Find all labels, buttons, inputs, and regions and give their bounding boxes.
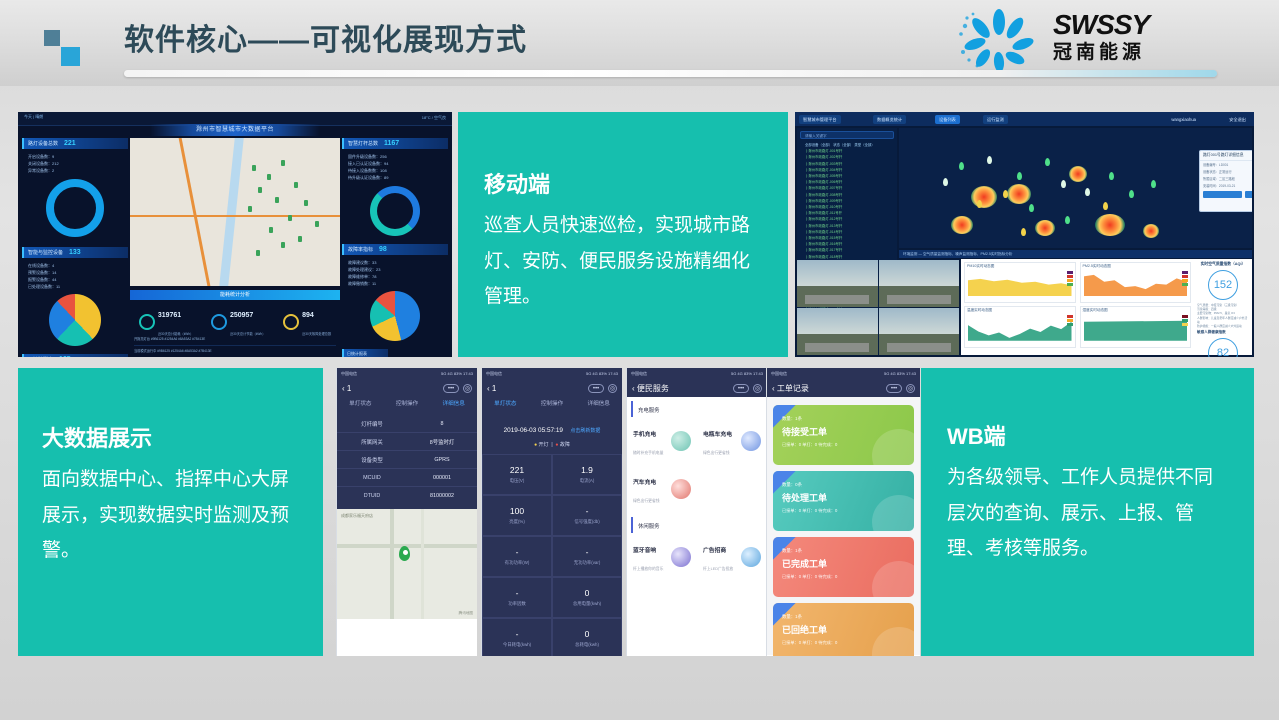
target-icon[interactable]: ◎ <box>608 384 617 393</box>
location-map[interactable]: 成都家乐福天府店 腾讯地图 <box>337 509 477 619</box>
tab-lamp-status[interactable]: 单灯状态 <box>337 397 384 411</box>
dashboard-left-column: 路灯设备总数221 开启设备数：9 关闭设备数：212 异常设备数：2 智能与监… <box>22 138 128 357</box>
kpi-header-poles: 智慧灯杆总数1167 <box>342 138 448 149</box>
nav-actions[interactable]: ••• ◎ <box>733 384 762 393</box>
back-icon[interactable]: ‹ 1 <box>342 384 351 393</box>
popup-control-button[interactable] <box>1245 191 1253 198</box>
back-icon[interactable]: ‹ 便民服务 <box>632 383 669 394</box>
donut-chart-poles <box>370 186 420 236</box>
chart-area-pm10 <box>968 272 1072 296</box>
metric-cell: -信号强度(db) <box>552 495 622 536</box>
square-dark-icon <box>44 30 60 46</box>
phone-nav-bar[interactable]: ‹ 工单记录 ••• ◎ <box>767 379 920 397</box>
nav-actions[interactable]: ••• ◎ <box>588 384 617 393</box>
chart-area-pm25 <box>1084 272 1188 296</box>
services-body: 充电服务 手机充电 随时补充手机电量 电瓶车充电 绿色出行更省钱 汽车充电 绿色… <box>627 401 767 656</box>
logout-button[interactable]: 安全退出 <box>1225 115 1250 124</box>
heatmap-canvas[interactable]: 路灯001号路灯详细信息 设备编号：LD001 设备状态：正常运行 所属区域：二… <box>899 128 1252 248</box>
phone-charge-icon <box>671 431 691 451</box>
work-order-card-pending-accept[interactable]: 数量：1条 待接受工单 已接单：0 单打：0 待完成：0 <box>773 405 914 465</box>
toolbar-item-monitor[interactable]: 运行监测 <box>983 115 1008 124</box>
chart-title-daily: 日统计报表 <box>342 349 388 357</box>
aqi-value-secondary: 82 <box>1208 338 1238 357</box>
panel-bigdata-body: 面向数据中心、指挥中心大屏展示，实现数据实时监测及预警。 <box>42 462 299 567</box>
chart-legend <box>1182 271 1188 287</box>
state-row: ● 开灯 | ● 故障 <box>482 441 622 454</box>
camera-grid[interactable] <box>797 260 959 355</box>
leisure-grid[interactable]: 蓝牙音响 杆上播放你的音乐 广告招商 杆上LED广告投放 <box>627 533 767 581</box>
state-err-label: 故障 <box>560 442 570 448</box>
panel-web: WB端 为各级领导、工作人员提供不同层次的查询、展示、上报、管理、考核等服务。 <box>921 368 1254 656</box>
chart-pm25: PM2.5实时动态图 <box>1080 262 1192 303</box>
service-ad-placement[interactable]: 广告招商 杆上LED广告投放 <box>697 533 767 581</box>
nav-actions[interactable]: ••• ◎ <box>443 384 472 393</box>
carrier-label: 中国电信 <box>341 371 357 377</box>
metric-cell: 221电压(V) <box>482 454 552 495</box>
car-charge-icon <box>671 479 691 499</box>
popup-row: 设备编号：LD001 <box>1200 161 1252 168</box>
square-blue-icon <box>61 47 80 66</box>
ebike-charge-icon <box>741 431 761 451</box>
chart-area-humidity <box>1084 316 1188 340</box>
chart-pm10: PM10实时动态图 <box>964 262 1076 303</box>
toolbar-item-platform[interactable]: 智慧城市管理平台 <box>799 115 841 124</box>
popup-row: 设备状态：正常运行 <box>1200 168 1252 175</box>
map-dashboard-toolbar[interactable]: 智慧城市管理平台 数据概览统计 设备列表 运行监测 wangxiaohua 安全… <box>795 112 1254 126</box>
panel-bigdata-title: 大数据展示 <box>42 426 299 452</box>
phone-work-orders[interactable]: 中国电信 5G 4G 83% 17:43 ‹ 工单记录 ••• ◎ 数量：1条 … <box>766 368 920 656</box>
ring-icon <box>283 314 299 330</box>
phone-tabs[interactable]: 单灯状态 控制操作 详细信息 <box>482 397 622 411</box>
phone-status-bar: 中国电信 5G 4G 83% 17:43 <box>482 368 622 379</box>
target-icon[interactable]: ◎ <box>753 384 762 393</box>
work-order-card-rejected[interactable]: 数量：1条 已回绝工单 已接单：0 单打：0 待完成：0 <box>773 603 914 656</box>
energy-band-title: 能耗统计分析 <box>130 290 340 300</box>
tab-control[interactable]: 控制操作 <box>529 397 576 411</box>
carrier-label: 中国电信 <box>771 371 787 377</box>
status-right: 5G 4G 83% 17:43 <box>731 371 763 376</box>
more-icon[interactable]: ••• <box>733 384 749 393</box>
camera-feed[interactable] <box>879 308 960 355</box>
tab-lamp-status[interactable]: 单灯状态 <box>482 397 529 411</box>
service-bluetooth-speaker[interactable]: 蓝牙音响 杆上播放你的音乐 <box>627 533 697 581</box>
environment-charts: PM10实时动态图 PM2.5实时动态图 温度实时动态图 <box>961 259 1194 355</box>
metric-cell: 0总用电量(kwh) <box>552 577 622 618</box>
phone-lamp-status[interactable]: 中国电信 5G 4G 83% 17:43 ‹ 1 ••• ◎ 单灯状态 控制操作… <box>481 368 622 656</box>
map-attribution: 腾讯地图 <box>459 611 473 616</box>
state-on-label: 开灯 <box>539 442 549 448</box>
charging-grid[interactable]: 手机充电 随时补充手机电量 电瓶车充电 绿色出行更省钱 汽车充电 绿色出行更省钱 <box>627 417 767 513</box>
nav-actions[interactable]: ••• ◎ <box>886 384 915 393</box>
slide-header: 软件核心——可视化展现方式 SWSSY 冠南能源 <box>0 0 1279 86</box>
tab-control[interactable]: 控制操作 <box>384 397 431 411</box>
phone-nav-bar[interactable]: ‹ 1 ••• ◎ <box>337 379 477 397</box>
map-label: 成都家乐福天府店 <box>341 513 373 519</box>
city-map[interactable] <box>130 138 340 286</box>
metric-cell: -功率因数 <box>482 577 552 618</box>
camera-feed[interactable] <box>797 260 878 307</box>
camera-feed[interactable] <box>797 308 878 355</box>
phone-nav-bar[interactable]: ‹ 1 ••• ◎ <box>482 379 622 397</box>
kpi-lines-poles: 固件升级设备数：256 接入已认证设备数：94 待接入设备数数：108 待升级认… <box>342 149 448 181</box>
metric-cell: -无功功率(var) <box>552 536 622 577</box>
carrier-label: 中国电信 <box>486 371 502 377</box>
popup-buttons[interactable] <box>1200 189 1252 200</box>
water-droplet-flower-icon <box>953 8 1045 70</box>
toolbar-item-devices[interactable]: 设备列表 <box>935 115 960 124</box>
carrier-label: 中国电信 <box>631 371 647 377</box>
more-icon[interactable]: ••• <box>886 384 902 393</box>
phone-status-bar: 中国电信 5G 4G 83% 17:43 <box>337 368 477 379</box>
aqi-panel: 实时空气质量指数（AQI） 152 空气质量：中度污染（三级污染） 污染等级：四… <box>1194 259 1252 355</box>
user-label[interactable]: wangxiaohua <box>1167 115 1200 124</box>
kpi-header-env: 环境监测点165 <box>22 354 128 357</box>
phone-lamp-detail[interactable]: 中国电信 5G 4G 83% 17:43 ‹ 1 ••• ◎ 单灯状态 控制操作… <box>336 368 477 656</box>
tab-detail[interactable]: 详细信息 <box>575 397 622 411</box>
table-row: 所属网关8号监时灯 <box>337 433 477 451</box>
metric-cell: 100亮度(%) <box>482 495 552 536</box>
table-row: MCUID000001 <box>337 469 477 487</box>
metric-cell: -有功功率(W) <box>482 536 552 577</box>
aqi-value-primary: 152 <box>1208 270 1238 300</box>
work-order-list[interactable]: 数量：1条 待接受工单 已接单：0 单打：0 待完成：0 数量：0条 待处理工单… <box>767 397 920 655</box>
dashboard-right-column: 智慧灯杆总数1167 固件升级设备数：256 接入已认证设备数：94 待接入设备… <box>342 138 448 357</box>
panel-bigdata: 大数据展示 面向数据中心、指挥中心大屏展示，实现数据实时监测及预警。 <box>18 368 323 656</box>
fault-icon: ● <box>555 442 558 448</box>
status-content: 2019-06-03 05:57:19 点击刷新数据 ● 开灯 | ● 故障 2… <box>482 411 622 656</box>
decorative-squares <box>44 30 84 68</box>
table-row: 设备类型GPRS <box>337 451 477 469</box>
device-info-popup[interactable]: 路灯001号路灯详细信息 设备编号：LD001 设备状态：正常运行 所属区域：二… <box>1199 150 1252 212</box>
popup-detail-button[interactable] <box>1203 191 1242 198</box>
popup-row: 安装时间：2019-03-21 <box>1200 182 1252 189</box>
timestamp: 2019-06-03 05:57:19 <box>504 427 563 434</box>
back-icon[interactable]: ‹ 1 <box>487 384 496 393</box>
panel-mobile-body: 巡查人员快速巡检，实现城市路灯、安防、便民服务设施精细化管理。 <box>484 208 762 313</box>
refresh-button[interactable]: 点击刷新数据 <box>570 428 600 434</box>
popup-title: 路灯001号路灯详细信息 <box>1200 151 1252 161</box>
more-icon[interactable]: ••• <box>588 384 604 393</box>
kpi-header-lamps: 路灯设备总数221 <box>22 138 128 149</box>
bigdata-dashboard-screenshot[interactable]: 今天 | 晴朗 18°C / 空气良 滁州市智慧城市大数据平台 路灯设备总数22… <box>18 112 452 357</box>
popup-row: 所属区域：二区三路段 <box>1200 175 1252 182</box>
panel-mobile: 移动端 巡查人员快速巡检，实现城市路灯、安防、便民服务设施精细化管理。 <box>458 112 788 357</box>
kpi-header-monitor: 智能与监控设备133 <box>22 247 128 258</box>
camera-feed[interactable] <box>879 260 960 307</box>
search-input[interactable]: 请输入关键字 <box>800 131 894 139</box>
lamp-on-icon: ● <box>534 442 537 448</box>
chart-legend <box>1067 315 1073 327</box>
chart-humidity: 湿度实时动态图 <box>1080 306 1192 347</box>
pie-chart-fault <box>370 291 420 341</box>
aqi-subtitle: 敏感人群健康指数 <box>1197 330 1249 335</box>
kpi-lines-monitor: 在线设备数：4 预警设备数：14 报警设备数：44 已处理设备数：11 <box>22 258 128 290</box>
chart-area-temp <box>968 316 1072 340</box>
weather-label: 今天 | 晴朗 <box>24 114 43 120</box>
more-icon[interactable]: ••• <box>443 384 459 393</box>
detail-table: 灯杆编号8 所属网关8号监时灯 设备类型GPRS MCUID000001 DTU… <box>337 411 477 509</box>
page-title: 软件核心——可视化展现方式 <box>124 15 527 59</box>
ad-screen-icon <box>741 547 761 567</box>
service-car-charge[interactable]: 汽车充电 绿色出行更省钱 <box>627 465 697 513</box>
panel-web-body: 为各级领导、工作人员提供不同层次的查询、展示、上报、管理、考核等服务。 <box>947 460 1228 565</box>
table-row: 灯杆编号8 <box>337 415 477 433</box>
ring-icon <box>211 314 227 330</box>
panel-web-title: WB端 <box>947 424 1228 450</box>
work-order-card-completed[interactable]: 数量：1条 已完成工单 已接单：0 单打：0 待完成：0 <box>773 537 914 597</box>
service-phone-charge[interactable]: 手机充电 随时补充手机电量 <box>627 417 697 465</box>
logo-wordmark: SWSSY 冠南能源 <box>1053 10 1149 66</box>
service-ebike-charge[interactable]: 电瓶车充电 绿色出行更省钱 <box>697 417 767 465</box>
aqi-title: 实时空气质量指数（AQI） <box>1197 262 1249 267</box>
donut-chart-lamps <box>46 179 104 237</box>
section-charging-label: 充电服务 <box>631 401 767 417</box>
bluetooth-speaker-icon <box>671 547 691 567</box>
status-right: 5G 4G 83% 17:43 <box>586 371 618 376</box>
dashboard-title: 滁州市智慧城市大数据平台 <box>150 124 320 136</box>
chart-temperature: 温度实时动态图 <box>964 306 1076 347</box>
ring-icon <box>139 314 155 330</box>
metric-grid: 221电压(V) 1.9电流(A) 100亮度(%) -信号强度(db) -有功… <box>482 454 622 656</box>
phone-status-bar: 中国电信 5G 4G 83% 17:43 <box>767 368 920 379</box>
air-label: 18°C / 空气良 <box>422 115 446 121</box>
toolbar-item-overview[interactable]: 数据概览统计 <box>873 115 906 124</box>
table-row: DTUID81000002 <box>337 487 477 505</box>
target-icon[interactable]: ◎ <box>463 384 472 393</box>
target-icon[interactable]: ◎ <box>906 384 915 393</box>
brand-name: SWSSY <box>1053 10 1149 40</box>
city-map-dashboard-screenshot[interactable]: 智慧城市管理平台 数据概览统计 设备列表 运行监测 wangxiaohua 安全… <box>795 112 1254 357</box>
chart-section-title: 环境监测 — 空气质量监测指标、噪声监测指标、PM2.5实时指标分析 <box>899 250 1252 258</box>
company-logo: SWSSY 冠南能源 <box>953 8 1223 72</box>
pie-chart-monitor <box>49 294 101 346</box>
metric-cell: 1.9电流(A) <box>552 454 622 495</box>
stat-rows: 开篇亮灯台 #9B6125 #1254A6 #8A53A2 #7B413E 当前… <box>134 334 336 357</box>
metric-cell: 0总耗电(kwh) <box>552 618 622 656</box>
brand-name-cn: 冠南能源 <box>1053 40 1149 66</box>
timestamp-row: 2019-06-03 05:57:19 点击刷新数据 <box>482 411 622 441</box>
phone-nav-bar[interactable]: ‹ 便民服务 ••• ◎ <box>627 379 767 397</box>
phone-tabs[interactable]: 单灯状态 控制操作 详细信息 <box>337 397 477 411</box>
work-order-card-pending-process[interactable]: 数量：0条 待处理工单 已接单：0 单打：0 待完成：0 <box>773 471 914 531</box>
back-icon[interactable]: ‹ 工单记录 <box>772 383 809 394</box>
chart-legend <box>1182 315 1188 327</box>
dashboard-middle-column: 能耗统计分析 319761 近30天总计能耗（kWh） 250957 近30天总… <box>130 138 340 353</box>
status-right: 5G 4G 83% 17:43 <box>884 371 916 376</box>
kpi-header-fault: 故障率指标98 <box>342 244 448 255</box>
kpi-lines-fault: 故障建议数：33 故障处理建议：23 故障维修单：78 故障撤销数：11 <box>342 255 448 287</box>
chart-legend <box>1067 271 1073 287</box>
metric-cell: -今日耗电(kwh) <box>482 618 552 656</box>
tab-detail[interactable]: 详细信息 <box>430 397 477 411</box>
phone-convenience-services[interactable]: 中国电信 5G 4G 83% 17:43 ‹ 便民服务 ••• ◎ 充电服务 手… <box>626 368 767 656</box>
kpi-lines-lamps: 开启设备数：9 关闭设备数：212 异常设备数：2 <box>22 149 128 174</box>
panel-mobile-title: 移动端 <box>484 172 762 198</box>
phone-status-bar: 中国电信 5G 4G 83% 17:43 <box>627 368 767 379</box>
section-leisure-label: 休闲服务 <box>631 517 767 533</box>
aqi-lines-primary: 空气质量：中度污染（三级污染） 污染等级：四级 主要污染物：PM2.5、臭氧 O… <box>1197 303 1249 328</box>
status-right: 5G 4G 83% 17:43 <box>441 371 473 376</box>
